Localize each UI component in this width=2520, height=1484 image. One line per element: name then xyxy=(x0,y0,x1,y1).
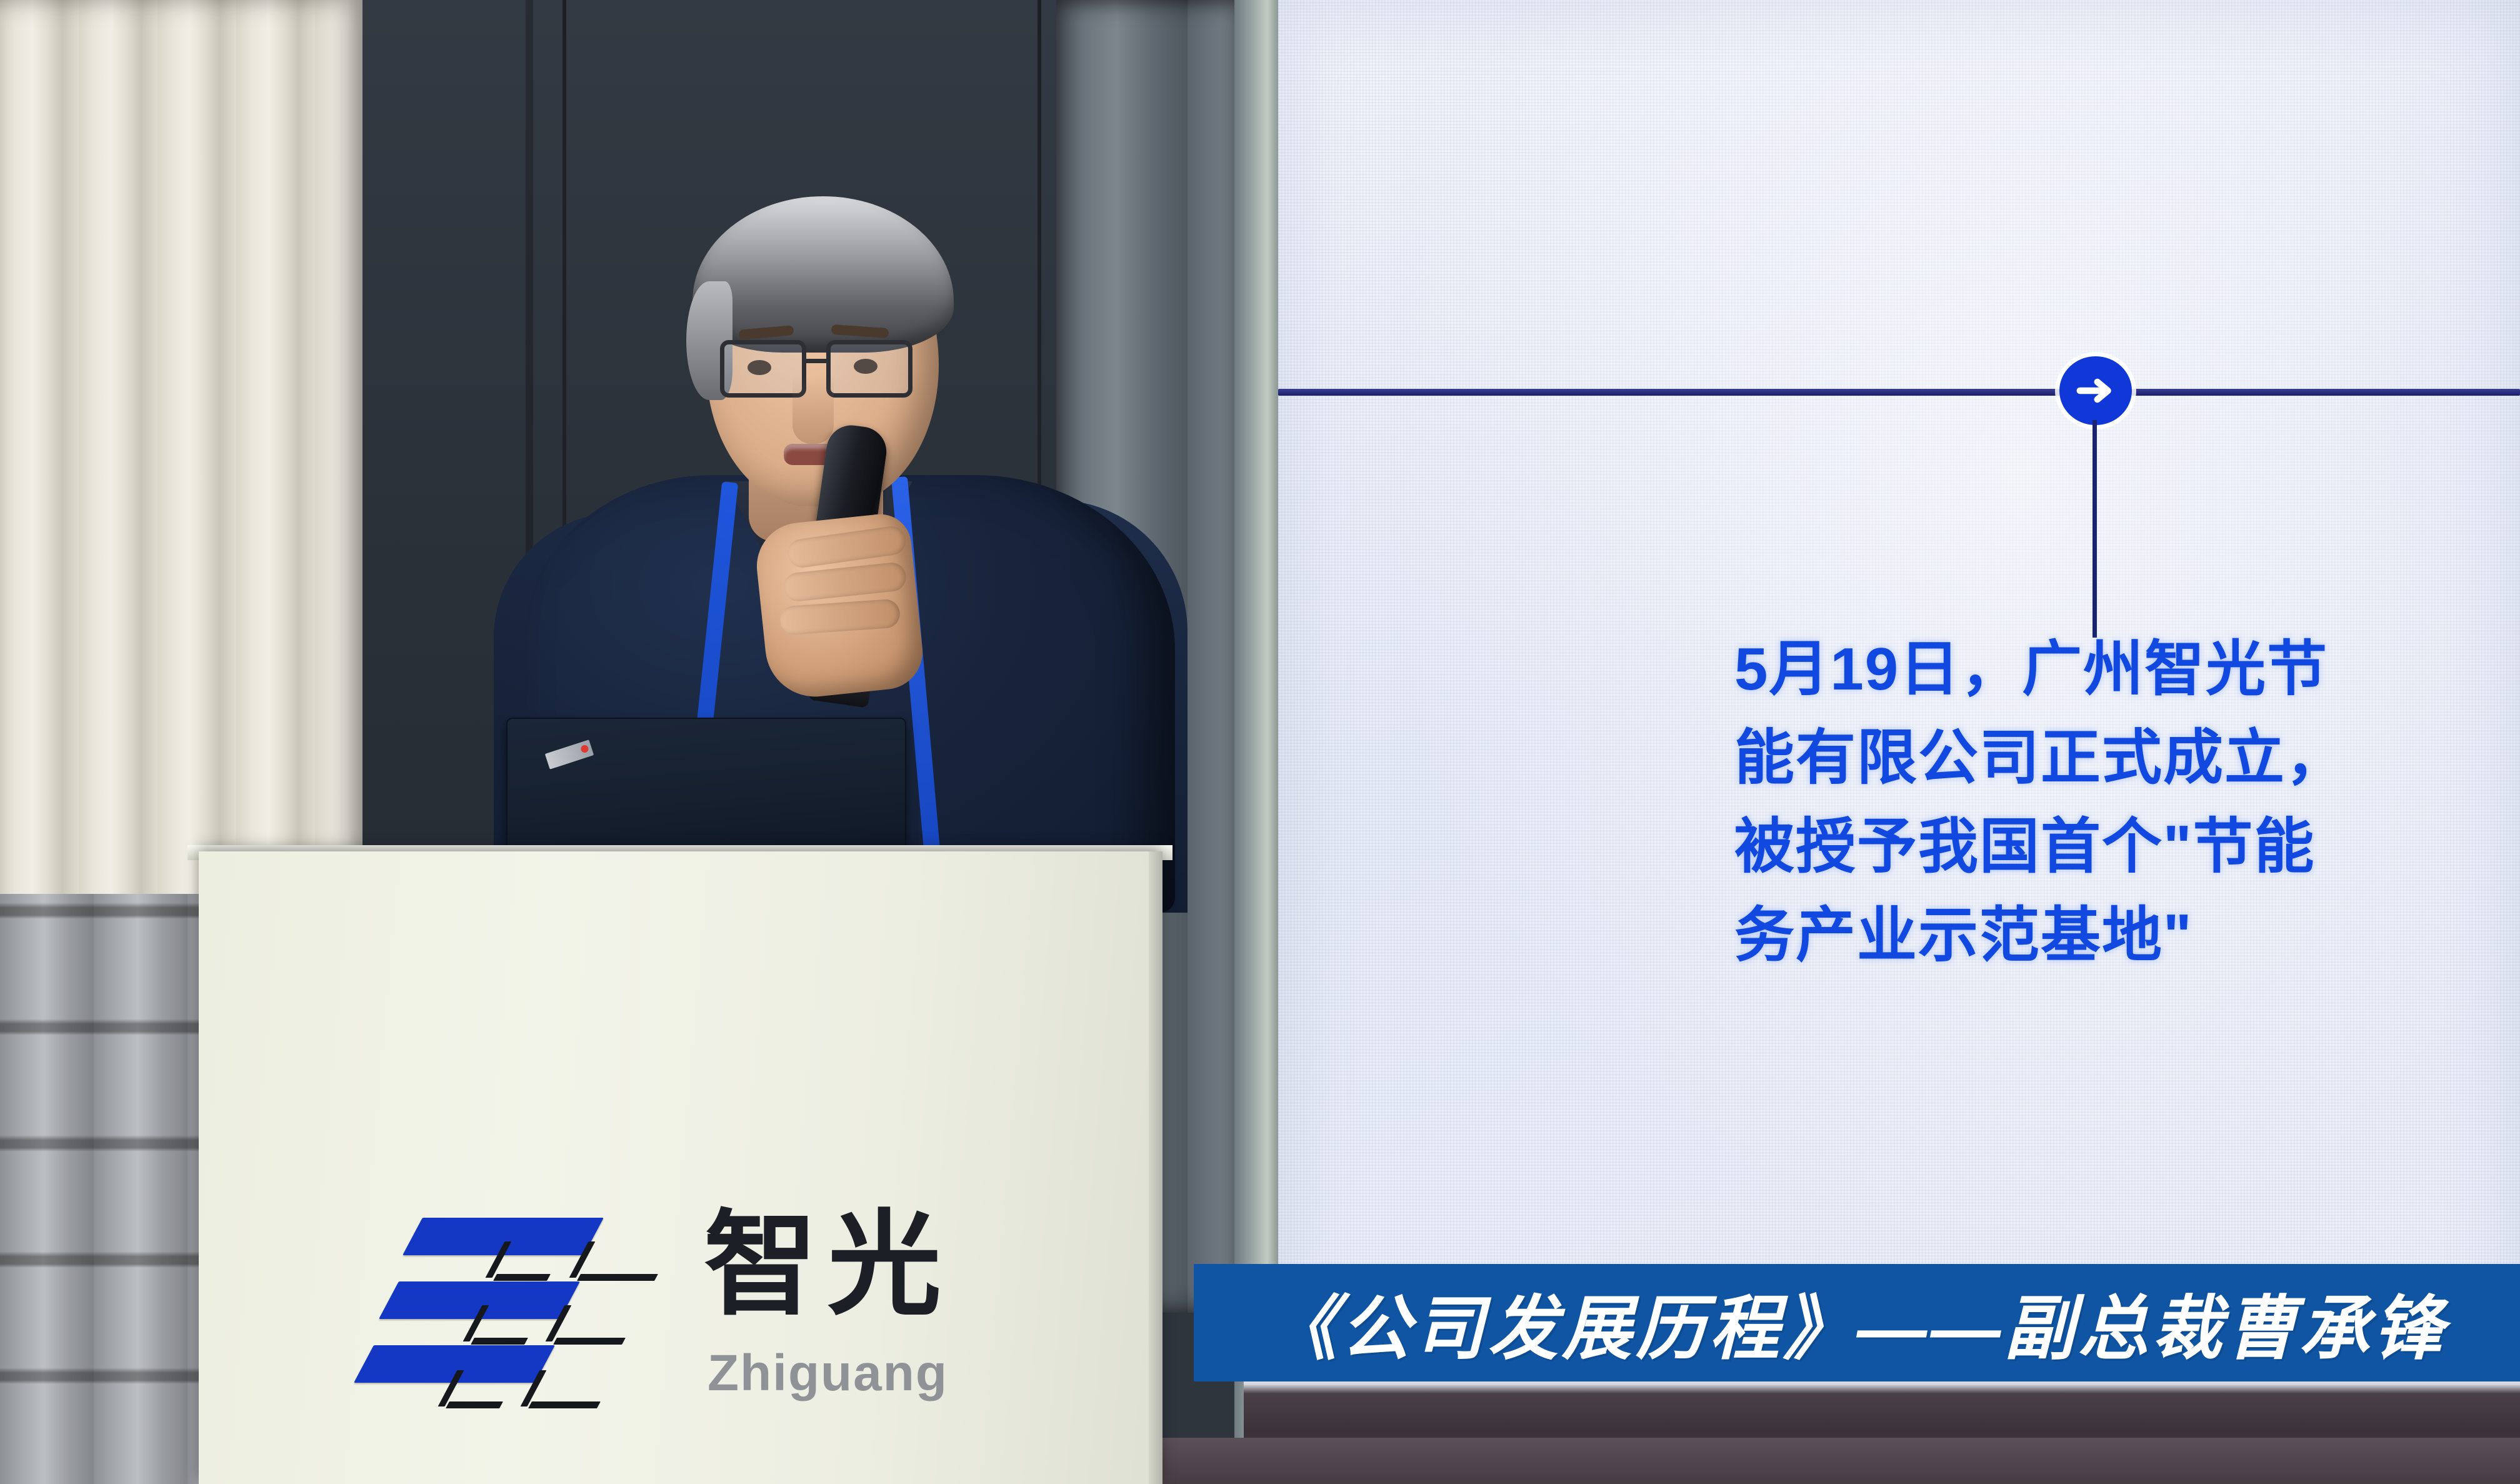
slide-body-text: 5月19日，广州智光节 能有限公司正式成立， 被授予我国首个"节能 务产业示范基… xyxy=(1734,625,2520,980)
podium-right-edge xyxy=(1149,851,1162,1484)
nose xyxy=(792,375,834,444)
timeline-connector-line xyxy=(2092,420,2097,638)
caption-banner-text: 《公司发展历程》——副总裁曹承锋 xyxy=(1267,1272,2447,1373)
caption-banner: 《公司发展历程》——副总裁曹承锋 xyxy=(1194,1264,2520,1381)
slide-body-line-4: 务产业示范基地" xyxy=(1734,891,2520,980)
laptop-lid xyxy=(506,718,906,856)
timeline-axis xyxy=(1278,389,2520,396)
presentation-scene: 重动态 光电气 5月19日，广州智光节 能有限公司正式成立， 被授予我国首个"节… xyxy=(0,0,2520,1484)
floor-strip xyxy=(1161,1438,2520,1484)
glasses-bridge xyxy=(806,359,826,363)
slide-body-line-2: 能有限公司正式成立， xyxy=(1734,714,2520,803)
logo-chinese-name: 智光 xyxy=(704,1208,951,1321)
thinkpad-logo-icon xyxy=(545,739,594,770)
slide-top-partial-text: 重动态 光电气 xyxy=(1789,0,2520,134)
slide-body-line-3: 被授予我国首个"节能 xyxy=(1734,803,2520,891)
projection-screen: 重动态 光电气 5月19日，广州智光节 能有限公司正式成立， 被授予我国首个"节… xyxy=(1278,0,2520,1381)
screen-left-frame xyxy=(1234,0,1278,1484)
company-logo: 智光 Zhiguang xyxy=(372,1208,1085,1420)
slide-body-line-1: 5月19日，广州智光节 xyxy=(1734,625,2520,714)
logo-mark-icon xyxy=(372,1214,672,1408)
lens-right xyxy=(826,340,912,398)
timeline-node-marker xyxy=(2059,356,2132,425)
logo-latin-name: Zhiguang xyxy=(707,1344,948,1403)
arrow-right-icon xyxy=(2074,369,2117,413)
